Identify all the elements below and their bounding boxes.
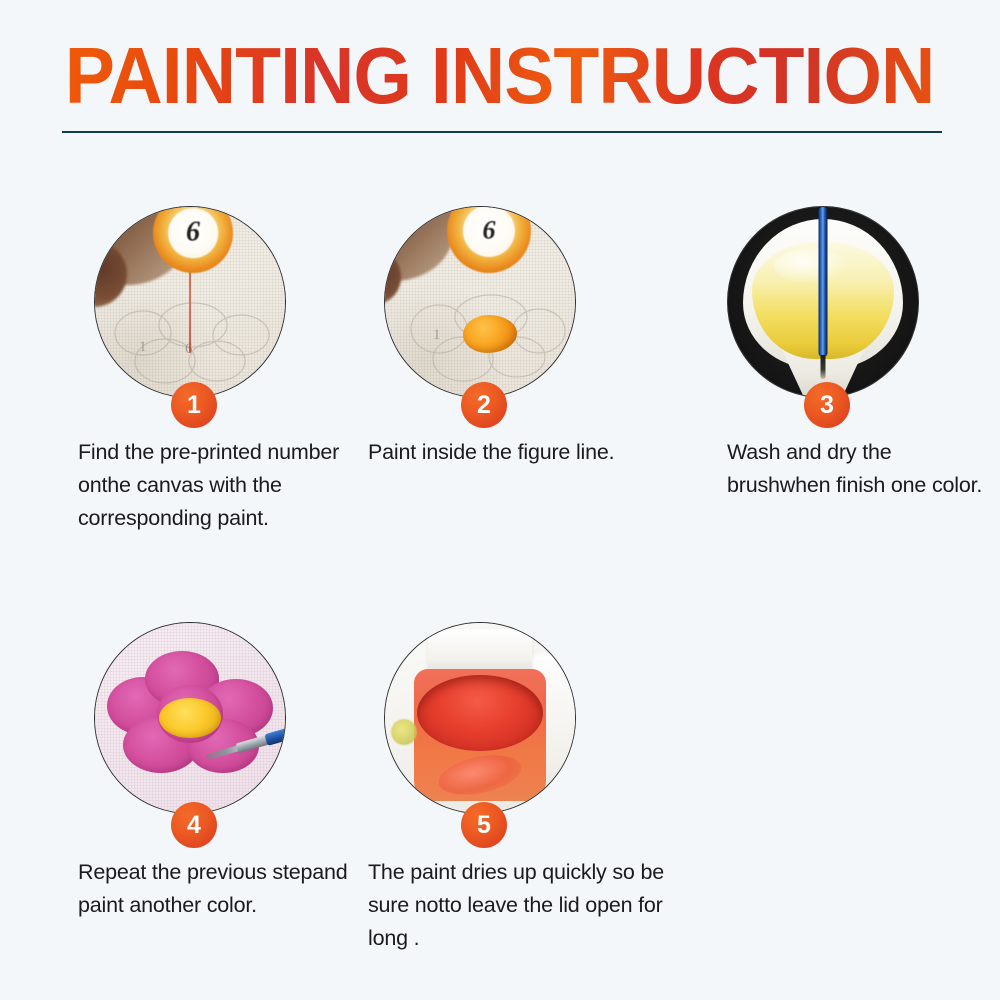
canvas-number-1: 1 — [139, 339, 147, 356]
flower-center-yellow — [159, 698, 221, 738]
wash-cup-scene — [728, 207, 918, 397]
step-2-caption: Paint inside the figure line. — [368, 436, 668, 469]
paint-pot-opening — [417, 675, 543, 751]
background-paint-blob — [391, 719, 417, 745]
step-5-image — [384, 622, 576, 814]
instruction-steps-grid: 1 6 6 1 Find the pre-printed number onth… — [0, 0, 1000, 1000]
step-5-caption: The paint dries up quickly so be sure no… — [368, 856, 668, 955]
water-highlight — [774, 249, 848, 283]
paint-pot-number-label: 6 — [483, 217, 496, 243]
instruction-step-3: 3 Wash and dry the brushwhen finish one … — [727, 206, 1000, 502]
blue-brush-handle — [819, 207, 828, 357]
step-number-badge-1: 1 — [171, 382, 217, 428]
paint-pot-number-label: 6 — [186, 218, 200, 246]
open-paint-pot-scene — [385, 623, 575, 813]
step-1-caption: Find the pre-printed number onthe canvas… — [78, 436, 346, 535]
step-3-image — [727, 206, 919, 398]
instruction-step-1: 1 6 6 1 Find the pre-printed number onth… — [78, 206, 388, 535]
step-3-caption: Wash and dry the brushwhen finish one co… — [727, 436, 995, 502]
canvas-background: 1 6 — [385, 207, 575, 397]
instruction-step-5: 5 The paint dries up quickly so be sure … — [368, 622, 678, 955]
step-number-badge-4: 4 — [171, 802, 217, 848]
paint-swirl-highlight — [435, 749, 525, 801]
step-4-image — [94, 622, 286, 814]
step-number-badge-3: 3 — [804, 382, 850, 428]
step-1-image: 1 6 6 — [94, 206, 286, 398]
step-2-image: 1 6 — [384, 206, 576, 398]
step-number-badge-5: 5 — [461, 802, 507, 848]
step-4-caption: Repeat the previous stepand paint anothe… — [78, 856, 368, 922]
canvas-number-1: 1 — [433, 327, 441, 344]
instruction-step-2: 1 6 2 Paint inside the figure line. — [368, 206, 678, 469]
instruction-step-4: 4 Repeat the previous stepand paint anot… — [78, 622, 388, 922]
painted-flower-scene — [95, 623, 285, 813]
canvas-background: 1 6 6 — [95, 207, 285, 397]
brush-bristle-tip — [821, 355, 826, 379]
step-number-badge-2: 2 — [461, 382, 507, 428]
